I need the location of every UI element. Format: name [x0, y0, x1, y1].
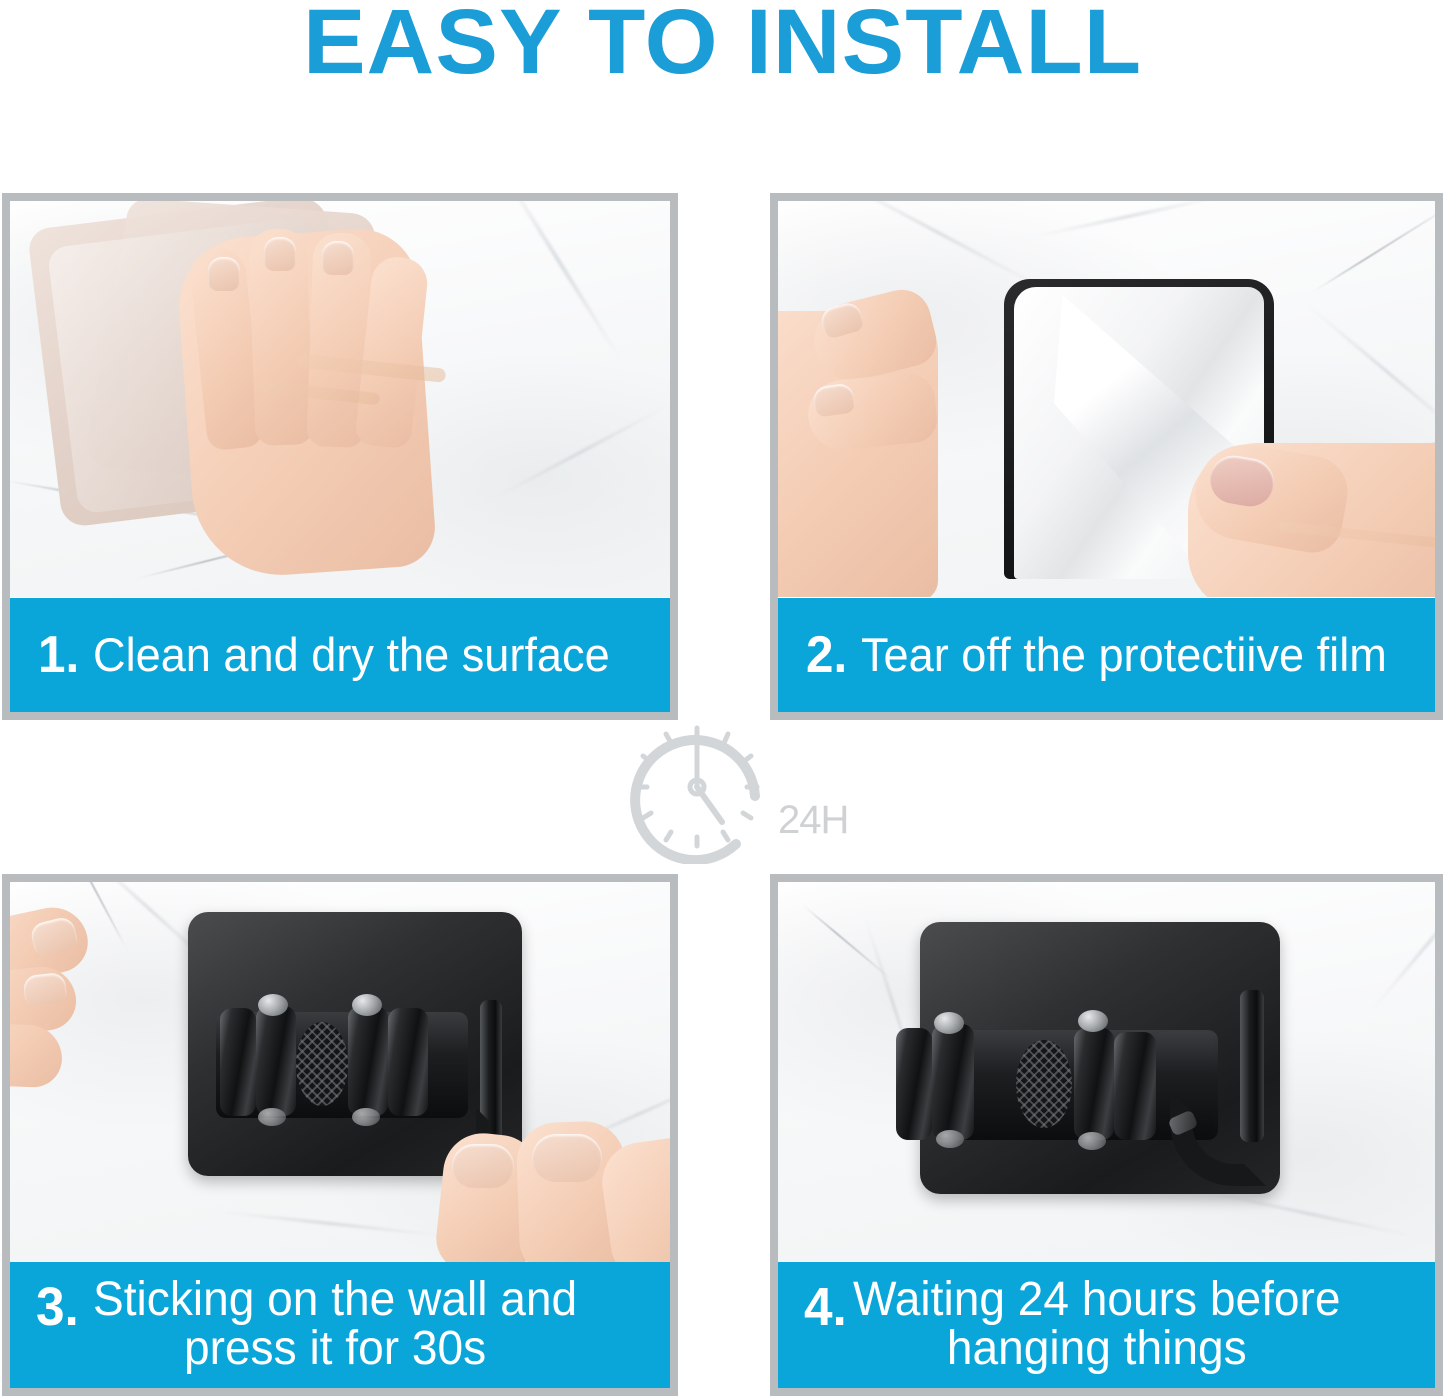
fingernail — [208, 257, 240, 291]
step-card-2-inner: 2. Tear off the protectiive film — [778, 201, 1435, 712]
step-1-number: 1. — [38, 629, 79, 681]
step-1-photo — [10, 201, 670, 597]
screw-cap — [1078, 1010, 1108, 1032]
clamp-roller — [1114, 1032, 1156, 1140]
clamp-roller — [388, 1008, 428, 1116]
clamp-roller — [256, 1006, 296, 1116]
marble-vein — [801, 904, 894, 983]
clamp-roller — [1074, 1028, 1114, 1140]
step-1-caption: 1. Clean and dry the surface — [10, 598, 670, 712]
marble-vein — [491, 404, 669, 501]
fingernail — [23, 972, 68, 1006]
step-3-number: 3. — [36, 1280, 79, 1334]
clamp-roller — [348, 1006, 388, 1116]
step-card-1-inner: 1. Clean and dry the surface — [10, 201, 670, 712]
step-3-label-line-1: Sticking on the wall and — [93, 1273, 577, 1326]
step-card-1: 1. Clean and dry the surface — [2, 193, 678, 720]
step-4-caption: 4. Waiting 24 hours before hanging thing… — [778, 1262, 1435, 1388]
step-4-number: 4. — [804, 1280, 847, 1334]
step-1-label: Clean and dry the surface — [93, 631, 610, 679]
fingernail — [812, 382, 856, 417]
step-2-caption: 2. Tear off the protectiive film — [778, 598, 1435, 712]
step-card-3: 3. Sticking on the wall and press it for… — [2, 874, 678, 1396]
fingernail — [264, 237, 296, 271]
step-3-label-line-2: press it for 30s — [93, 1325, 577, 1374]
marble-vein — [1303, 301, 1435, 445]
step-card-3-inner: 3. Sticking on the wall and press it for… — [10, 882, 670, 1388]
clamp-roller — [932, 1024, 974, 1140]
step-3-label: Sticking on the wall and press it for 30… — [93, 1276, 577, 1374]
step-4-photo — [778, 882, 1435, 1270]
finger — [10, 1022, 63, 1088]
holder-mesh-pad — [1016, 1040, 1072, 1128]
screw-cap — [352, 1108, 380, 1126]
step-card-2: 2. Tear off the protectiive film — [770, 193, 1443, 720]
screw-cap — [936, 1130, 964, 1148]
step-4-label-line-2: hanging things — [853, 1325, 1341, 1374]
clock-24h-icon — [618, 712, 798, 864]
step-4-label-line-1: Waiting 24 hours before — [853, 1273, 1341, 1326]
screw-cap — [258, 1108, 286, 1126]
page-title: EASY TO INSTALL — [0, 0, 1445, 88]
screw-cap — [258, 994, 288, 1016]
holder-mesh-pad — [296, 1022, 348, 1106]
marble-vein — [1030, 201, 1226, 239]
marble-vein — [495, 201, 626, 366]
step-card-4: 4. Waiting 24 hours before hanging thing… — [770, 874, 1443, 1396]
marble-vein — [1310, 202, 1435, 294]
screw-cap — [352, 994, 382, 1016]
step-2-photo — [778, 201, 1435, 597]
step-3-photo — [10, 882, 670, 1270]
clamp-roller — [220, 1008, 256, 1116]
marble-vein — [211, 1209, 450, 1237]
clock-24h-label: 24H — [778, 798, 848, 843]
step-2-number: 2. — [806, 629, 847, 681]
step-2-label: Tear off the protectiive film — [861, 631, 1387, 679]
screw-cap — [1078, 1132, 1106, 1150]
fingernail — [452, 1144, 514, 1188]
fingernail — [532, 1134, 602, 1182]
clamp-roller — [896, 1028, 932, 1140]
step-card-4-inner: 4. Waiting 24 hours before hanging thing… — [778, 882, 1435, 1388]
marble-vein — [1200, 1189, 1416, 1238]
step-3-caption: 3. Sticking on the wall and press it for… — [10, 1262, 670, 1388]
step-4-label: Waiting 24 hours before hanging things — [853, 1276, 1341, 1374]
fingernail — [322, 241, 354, 275]
screw-cap — [934, 1012, 964, 1034]
marble-vein — [1369, 882, 1435, 1013]
